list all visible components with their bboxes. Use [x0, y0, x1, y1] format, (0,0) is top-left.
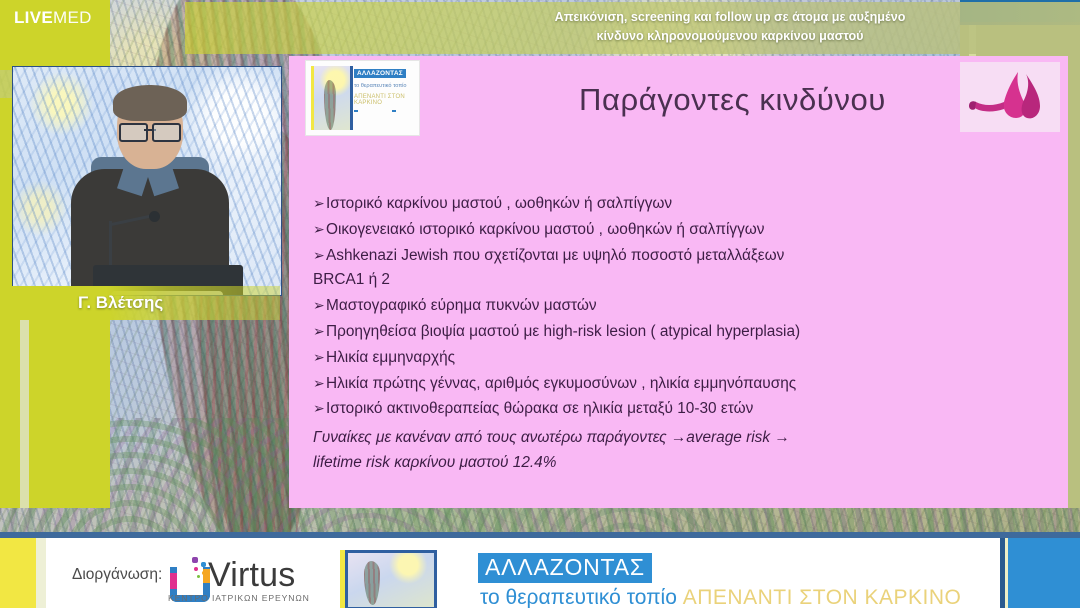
slide-bullet-text: Ηλικία εμμηναρχής — [326, 349, 455, 366]
speaker-video-feed[interactable] — [12, 66, 282, 296]
livemed-logo-secondary: MED — [53, 8, 92, 27]
session-title-line-1: Απεικόνιση, screening και follow up σε ά… — [430, 8, 1030, 27]
bullet-arrow-icon: ➢ — [313, 243, 326, 268]
slide-bullet-text: Οικογενειακό ιστορικό καρκίνου μαστού , … — [326, 221, 765, 238]
virtus-logo-icon — [168, 557, 210, 597]
presentation-slide[interactable]: ΑΛΛΑΖΟΝΤΑΣ το θεραπευτικό τοπίο ΑΠΕΝΑΝΤΙ… — [289, 56, 1068, 508]
slide-body: ➢Ιστορικό καρκίνου μαστού , ωοθηκών ή σα… — [313, 191, 1053, 476]
bullet-arrow-icon: ➢ — [313, 191, 326, 216]
bullet-arrow-icon: ➢ — [313, 217, 326, 242]
livemed-logo[interactable]: LIVEMED — [14, 8, 92, 28]
slide-bullet-text: Μαστογραφικό εύρημα πυκνών μαστών — [326, 297, 597, 314]
bullet-arrow-icon: ➢ — [313, 345, 326, 370]
slide-bullet: ➢Προηγηθείσα βιοψία μαστού με high-risk … — [313, 319, 1053, 345]
banner-blue-panel — [1008, 538, 1080, 608]
slide-bullet: ➢Οικογενειακό ιστορικό καρκίνου μαστού ,… — [313, 217, 1053, 243]
right-olive-column — [1068, 70, 1080, 508]
slide-bullet: ➢Ηλικία πρώτης γέννας, αριθμός εγκυμοσύν… — [313, 371, 1053, 397]
event-heading: ΑΛΛΑΖΟΝΤΑΣ — [478, 553, 652, 583]
bullet-arrow-icon: ➢ — [313, 319, 326, 344]
bullet-arrow-icon: ➢ — [313, 371, 326, 396]
event-subtitle-blue: το θεραπευτικό τοπίο — [480, 586, 677, 608]
session-title: Απεικόνιση, screening και follow up σε ά… — [430, 8, 1030, 46]
event-artwork-thumbnail — [345, 550, 437, 608]
slide-closing-line-1: Γυναίκες με κανέναν από τους ανωτέρω παρ… — [313, 426, 1053, 451]
slide-closing-line-2: lifetime risk καρκίνου μαστού 12.4% — [313, 451, 1053, 476]
slide-bullet-text: Ιστορικό ακτινοθεραπείας θώρακα σε ηλικί… — [326, 400, 753, 417]
microphone-icon — [149, 211, 160, 222]
slide-bullet: ➢Ιστορικό καρκίνου μαστού , ωοθηκών ή σα… — [313, 191, 1053, 217]
glasses-icon — [119, 123, 181, 138]
organizer-label: Διοργάνωση: — [72, 566, 162, 584]
livemed-logo-primary: LIVE — [14, 8, 53, 27]
slide-title: Παράγοντες κινδύνου — [289, 82, 1068, 118]
broadcast-stage: LIVEMED Απεικόνιση, screening και follow… — [0, 0, 1080, 608]
slide-bullet-text: Προηγηθείσα βιοψία μαστού με high-risk l… — [326, 323, 800, 340]
speaker-hair — [113, 85, 187, 121]
slide-bullet-text: Ηλικία πρώτης γέννας, αριθμός εγκυμοσύνω… — [326, 375, 796, 392]
slide-bullet: ➢Ιστορικό ακτινοθεραπείας θώρακα σε ηλικ… — [313, 396, 1053, 422]
event-subtitle: το θεραπευτικό τοπίο ΑΠΕΝΑΝΤΙ ΣΤΟΝ ΚΑΡΚΙ… — [480, 586, 961, 608]
session-title-line-2: κίνδυνο κληρονομούμενου καρκίνου μαστού — [430, 27, 1030, 46]
banner-yellow-block — [0, 538, 36, 608]
bullet-arrow-icon: ➢ — [313, 396, 326, 421]
event-subtitle-gold: ΑΠΕΝΑΝΤΙ ΣΤΟΝ ΚΑΡΚΙΝΟ — [683, 586, 962, 608]
organizer-subtitle: ΚΕΝΤΡΟ ΙΑΤΡΙΚΩΝ ΕΡΕΥΝΩΝ — [168, 593, 310, 603]
slide-bullet: ➢Ashkenazi Jewish που σχετίζονται με υψη… — [313, 243, 1053, 269]
slide-bullet-text: Ιστορικό καρκίνου μαστού , ωοθηκών ή σαλ… — [326, 195, 672, 212]
bullet-arrow-icon: ➢ — [313, 293, 326, 318]
microphone-stem — [109, 221, 112, 271]
speaker-nameplate: Γ. Βλέτσης — [0, 286, 280, 320]
slide-logo-heading: ΑΛΛΑΖΟΝΤΑΣ — [354, 69, 406, 78]
bottom-banner: Διοργάνωση: Virtus ΚΕΝΤΡΟ ΙΑΤΡΙΚΩΝ ΕΡΕΥΝ… — [0, 520, 1080, 608]
slide-bullet: ➢Μαστογραφικό εύρημα πυκνών μαστών — [313, 293, 1053, 319]
slide-bullet-text: Ashkenazi Jewish που σχετίζονται με υψηλ… — [326, 247, 784, 264]
slide-bullet-continuation: BRCA1 ή 2 — [313, 268, 1053, 293]
slide-bullet: ➢Ηλικία εμμηναρχής — [313, 345, 1053, 371]
speaker-name: Γ. Βλέτσης — [78, 293, 163, 313]
organizer-name: Virtus — [208, 556, 296, 595]
slide-title-text: Παράγοντες κινδύνου — [579, 82, 886, 118]
banner-pale-block — [36, 538, 46, 608]
speaker-figure — [65, 85, 233, 295]
